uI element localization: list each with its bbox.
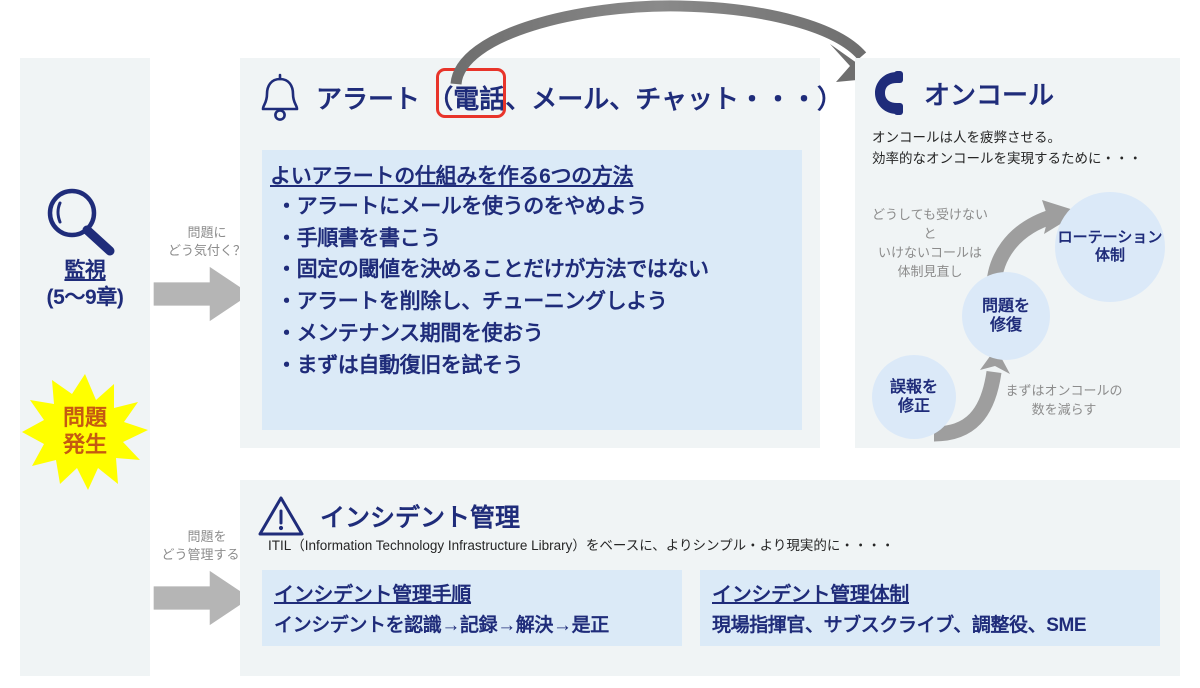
flow-note-top: どうしても受けないと いけないコールは 体制見直し	[868, 206, 992, 281]
incident-procedure-body: インシデントを認識→記録→解決→是正	[274, 610, 672, 637]
monitoring-title-line1: 監視	[20, 258, 150, 285]
incident-procedure-heading: インシデント管理手順	[274, 578, 672, 607]
incident-procedure-box: インシデント管理手順 インシデントを認識→記録→解決→是正	[262, 570, 682, 646]
page-title: 監視 (5〜9章)	[20, 258, 150, 312]
list-item: ・アラートにメールを使うのをやめよう	[276, 191, 802, 223]
alert-methods-list: ・アラートにメールを使うのをやめよう ・手順書を書こう ・固定の閾値を決めること…	[262, 191, 802, 381]
incident-organization-body: 現場指揮官、サブスクライブ、調整役、SME	[712, 610, 1150, 637]
alert-methods-box: よいアラートの仕組みを作る6つの方法 ・アラートにメールを使うのをやめよう ・手…	[262, 150, 802, 430]
incident-title: インシデント管理	[320, 498, 520, 534]
list-item: ・まずは自動復旧を試そう	[276, 350, 802, 382]
list-item: ・アラートを削除し、チューニングしよう	[276, 286, 802, 318]
alert-methods-heading: よいアラートの仕組みを作る6つの方法	[270, 160, 802, 190]
bubble-rotation-line2: 体制	[1095, 247, 1125, 265]
monitoring-title-line2: (5〜9章)	[20, 285, 150, 312]
telephone-icon	[870, 70, 904, 116]
bubble-rotation: ローテーション 体制	[1055, 192, 1165, 302]
bubble-repair: 問題を 修復	[962, 272, 1050, 360]
oncall-header: オンコール	[870, 62, 1170, 124]
monitoring-panel	[20, 58, 150, 676]
oncall-title: オンコール	[924, 75, 1054, 112]
bell-icon	[258, 73, 302, 121]
incident-organization-box: インシデント管理体制 現場指揮官、サブスクライブ、調整役、SME	[700, 570, 1160, 646]
flow-note-bottom: まずはオンコールの 数を減らす	[1000, 382, 1128, 420]
oncall-description: オンコールは人を疲弊させる。 効率的なオンコールを実現するために・・・	[872, 128, 1172, 170]
bubble-rotation-line1: ローテーション	[1058, 229, 1163, 247]
itil-note: ITIL（Information Technology Infrastructu…	[268, 534, 1128, 554]
bubble-repair-line2: 修復	[990, 316, 1022, 335]
problem-burst-shape	[22, 372, 148, 490]
list-item: ・固定の閾値を決めることだけが方法ではない	[276, 254, 802, 286]
bubble-repair-line1: 問題を	[982, 297, 1030, 316]
incident-organization-heading: インシデント管理体制	[712, 578, 1150, 607]
list-item: ・手順書を書こう	[276, 223, 802, 255]
bubble-false-alarm: 誤報を 修正	[872, 355, 956, 439]
warning-triangle-icon	[258, 495, 304, 537]
magnifier-icon	[40, 185, 120, 255]
bubble-false-alarm-line1: 誤報を	[890, 378, 938, 397]
list-item: ・メンテナンス期間を使おう	[276, 318, 802, 350]
diagram-canvas: 監視 (5〜9章) 問題 発生 問題に どう気付く？ 問題を どう管理する？	[0, 0, 1200, 688]
bubble-false-alarm-line2: 修正	[898, 397, 930, 416]
